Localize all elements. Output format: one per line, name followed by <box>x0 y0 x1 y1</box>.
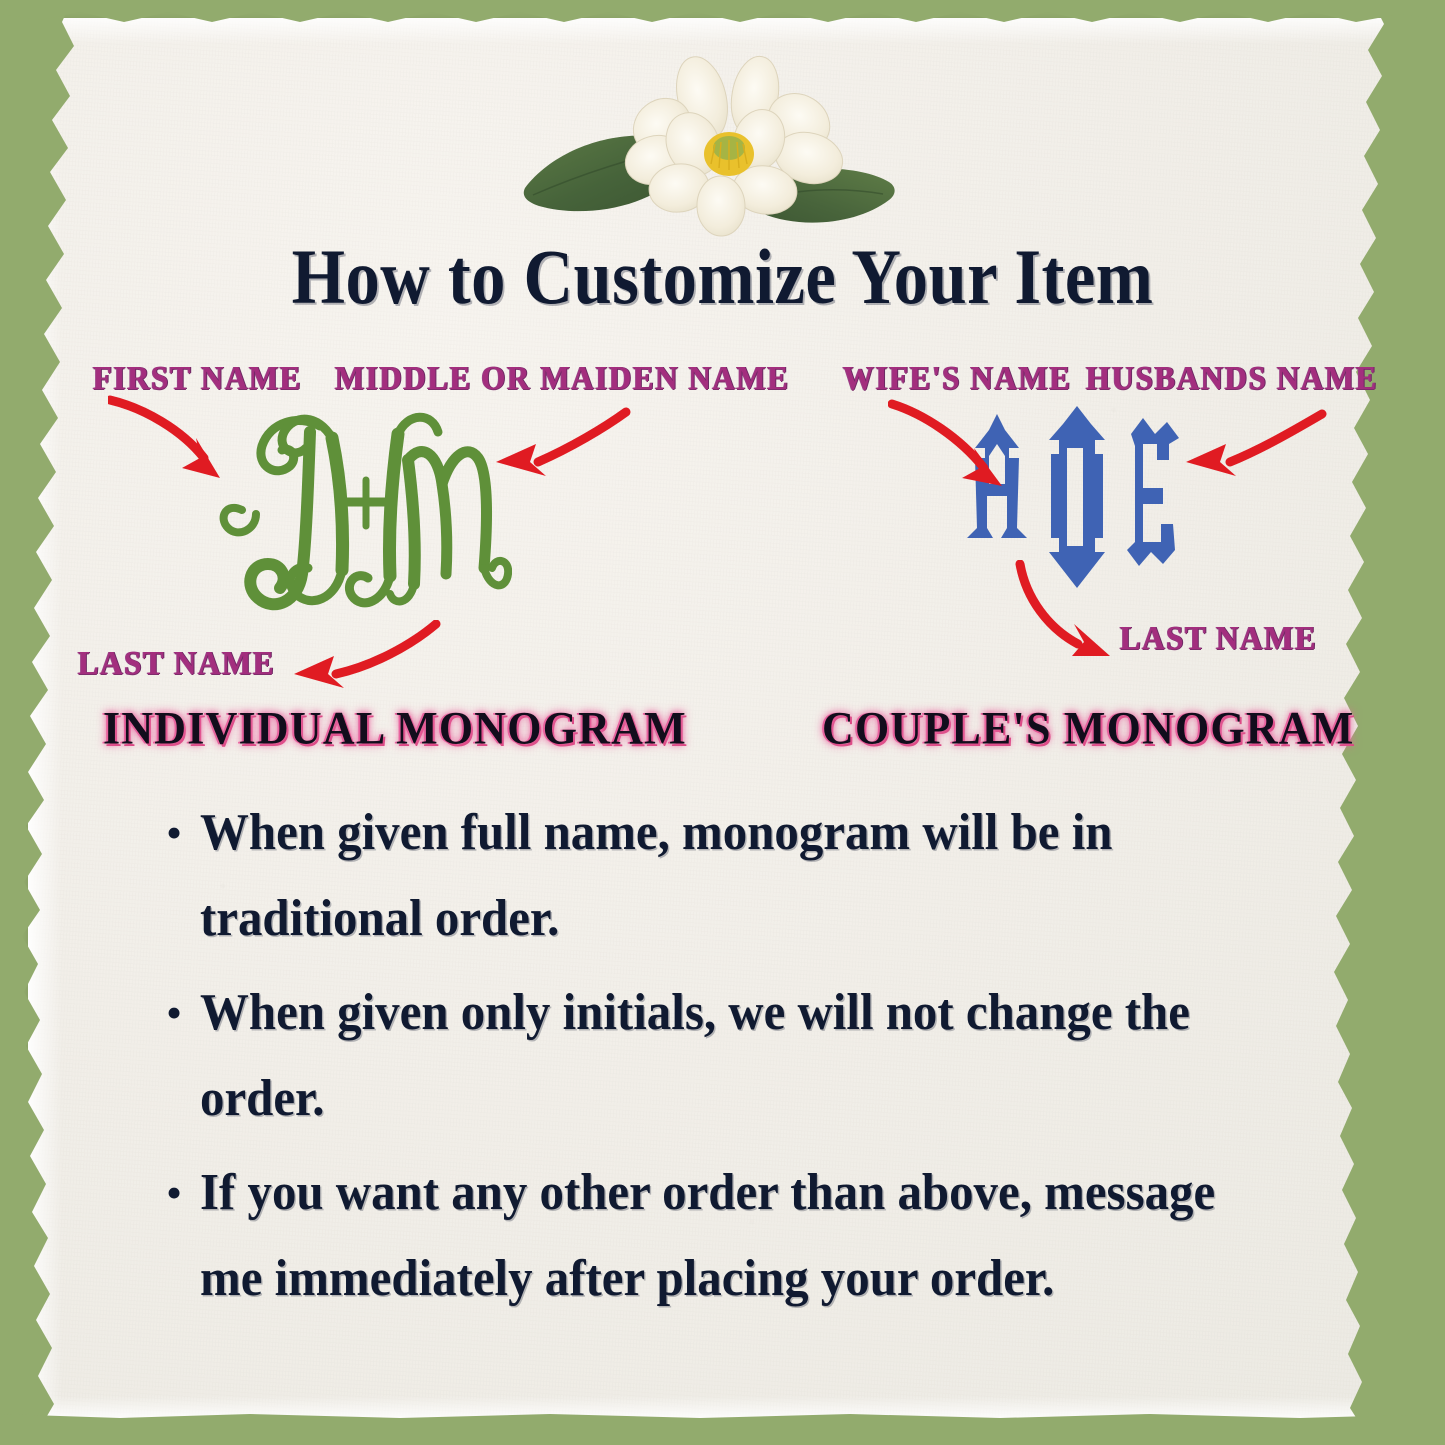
arrow-husband-name-icon <box>1160 400 1330 510</box>
bullet-marker-icon: • <box>166 970 200 1056</box>
bullet-marker-icon: • <box>166 790 200 876</box>
heading-couple-monogram: COUPLE'S MONOGRAM <box>822 702 1355 756</box>
list-item: • When given only initials, we will not … <box>166 970 1306 1142</box>
list-item: • If you want any other order than above… <box>166 1150 1306 1322</box>
arrow-last-name-right-icon <box>1000 560 1130 670</box>
list-item-text: If you want any other order than above, … <box>200 1150 1240 1322</box>
label-husbands-name: HUSBANDS NAME <box>1086 359 1378 398</box>
list-item-text: When given only initials, we will not ch… <box>200 970 1240 1142</box>
flower-center <box>704 132 754 176</box>
label-last-name-individual: LAST NAME <box>78 644 275 683</box>
bullet-marker-icon: • <box>166 1150 200 1236</box>
instructions-list: • When given full name, monogram will be… <box>166 790 1306 1330</box>
label-middle-or-maiden-name: MIDDLE OR MAIDEN NAME <box>335 359 790 398</box>
list-item: • When given full name, monogram will be… <box>166 790 1306 962</box>
label-last-name-couple: LAST NAME <box>1120 619 1317 658</box>
arrow-last-name-left-icon <box>268 620 443 705</box>
list-item-text: When given full name, monogram will be i… <box>200 790 1240 962</box>
heading-individual-monogram: INDIVIDUAL MONOGRAM <box>103 702 687 756</box>
arrow-first-name-icon <box>108 382 258 500</box>
page-title: How to Customize Your Item <box>87 232 1359 322</box>
arrow-wife-name-icon <box>888 388 1048 500</box>
infographic-canvas: How to Customize Your Item FIRST NAME MI… <box>0 0 1445 1445</box>
arrow-middle-name-icon <box>468 400 638 510</box>
magnolia-flower-icon <box>497 48 917 238</box>
